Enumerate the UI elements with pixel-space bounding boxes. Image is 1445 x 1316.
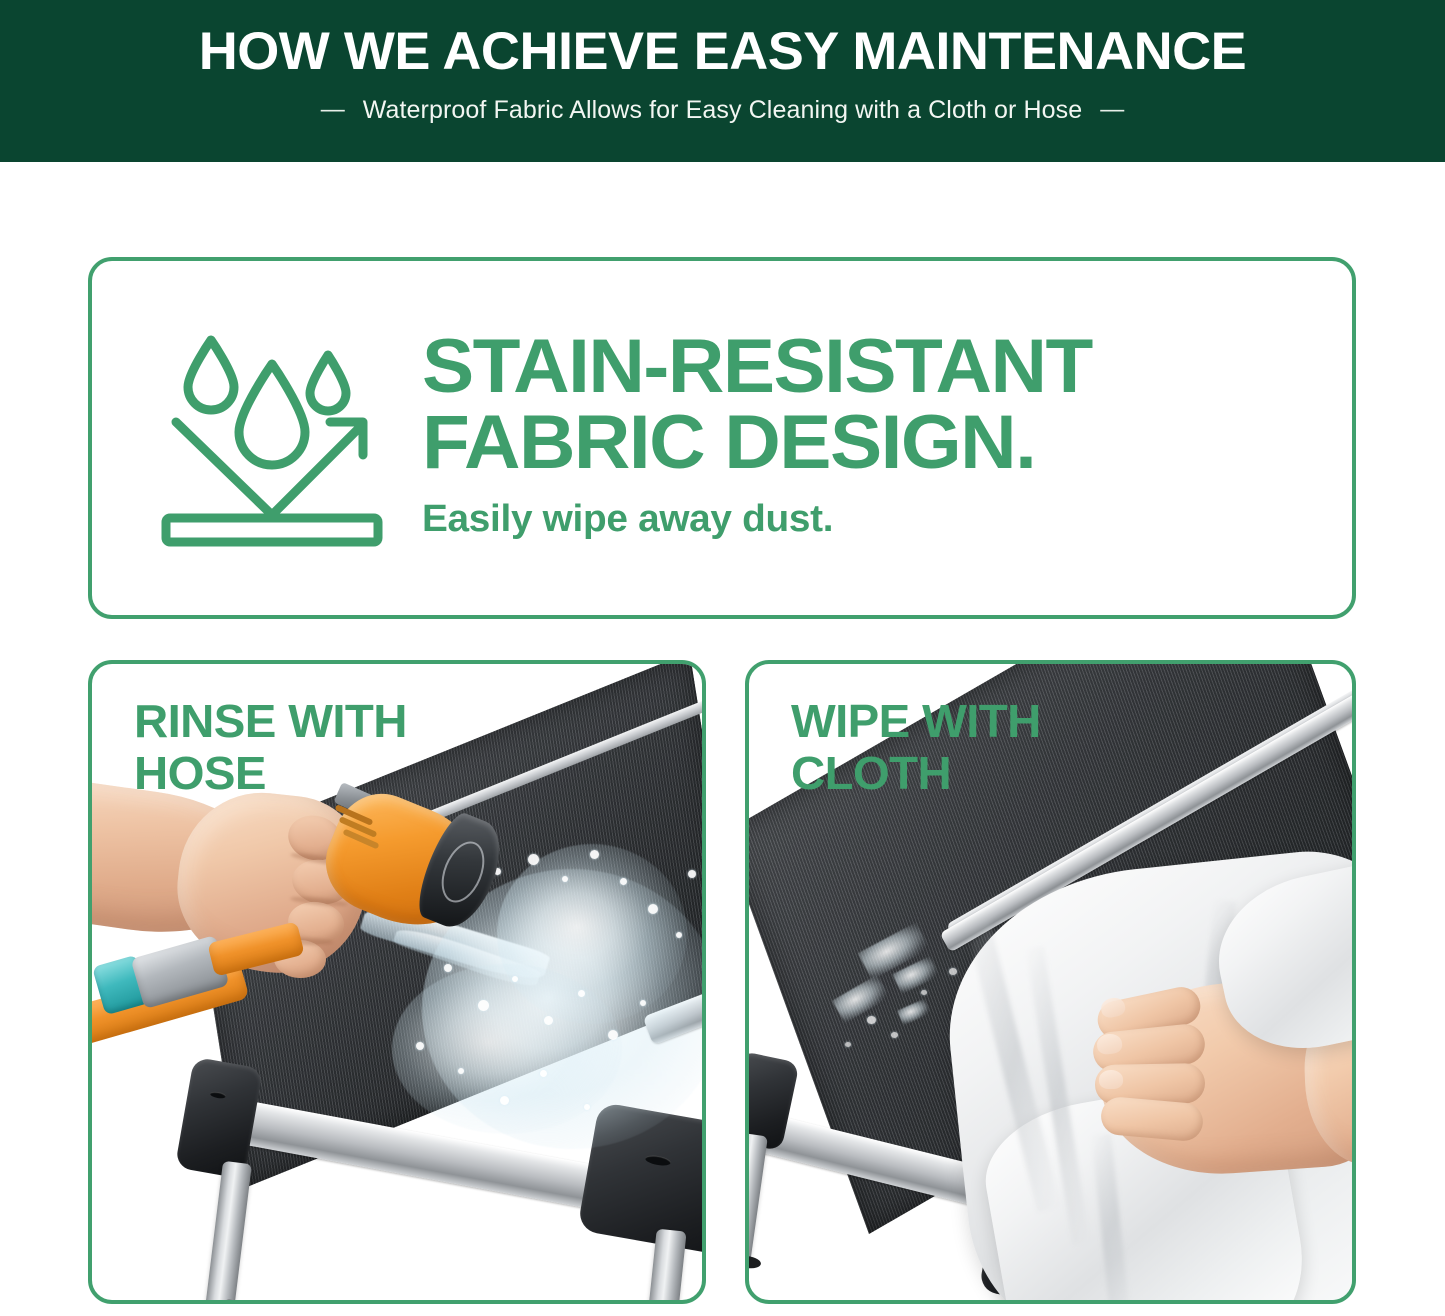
feature-icon-wrap [140, 322, 412, 554]
cot-leg-left [749, 1133, 768, 1266]
infographic-page: HOW WE ACHIEVE EASY MAINTENANCE — Waterp… [0, 0, 1445, 1316]
feature-card-inner: STAIN-RESISTANT FABRIC DESIGN. Easily wi… [92, 261, 1352, 615]
wipe-label-line-1: WIPE WITH [791, 696, 1041, 748]
water-repellent-fabric-icon [154, 322, 398, 554]
rinse-label-line-2: HOSE [134, 748, 407, 800]
header-banner: HOW WE ACHIEVE EASY MAINTENANCE — Waterp… [0, 0, 1445, 162]
wipe-with-cloth-card: WIPE WITH CLOTH [745, 660, 1356, 1304]
cot-leg-foot-left [749, 1254, 762, 1270]
header-subtitle-row: — Waterproof Fabric Allows for Easy Clea… [321, 96, 1125, 125]
feature-heading: STAIN-RESISTANT FABRIC DESIGN. [422, 329, 1356, 479]
feature-text-block: STAIN-RESISTANT FABRIC DESIGN. Easily wi… [412, 329, 1352, 546]
feature-subheading: Easily wipe away dust. [422, 498, 1356, 541]
em-dash-right-icon: — [1100, 98, 1124, 122]
cot-leg-front-left [205, 1161, 252, 1300]
feature-card-stain-resistant: STAIN-RESISTANT FABRIC DESIGN. Easily wi… [88, 257, 1356, 619]
rinse-card-label: RINSE WITH HOSE [134, 696, 407, 799]
rinse-label-line-1: RINSE WITH [134, 696, 407, 748]
em-dash-left-icon: — [321, 98, 345, 122]
wipe-card-label: WIPE WITH CLOTH [791, 696, 1041, 799]
rinse-with-hose-card: RINSE WITH HOSE [88, 660, 706, 1304]
page-subtitle: Waterproof Fabric Allows for Easy Cleani… [363, 96, 1083, 125]
feature-heading-line-1: STAIN-RESISTANT [422, 324, 1092, 409]
feature-heading-line-2: FABRIC DESIGN. [422, 405, 1356, 480]
wipe-label-line-2: CLOTH [791, 748, 1041, 800]
fabric-surface-bar-icon [166, 518, 378, 542]
page-title: HOW WE ACHIEVE EASY MAINTENANCE [199, 24, 1246, 80]
